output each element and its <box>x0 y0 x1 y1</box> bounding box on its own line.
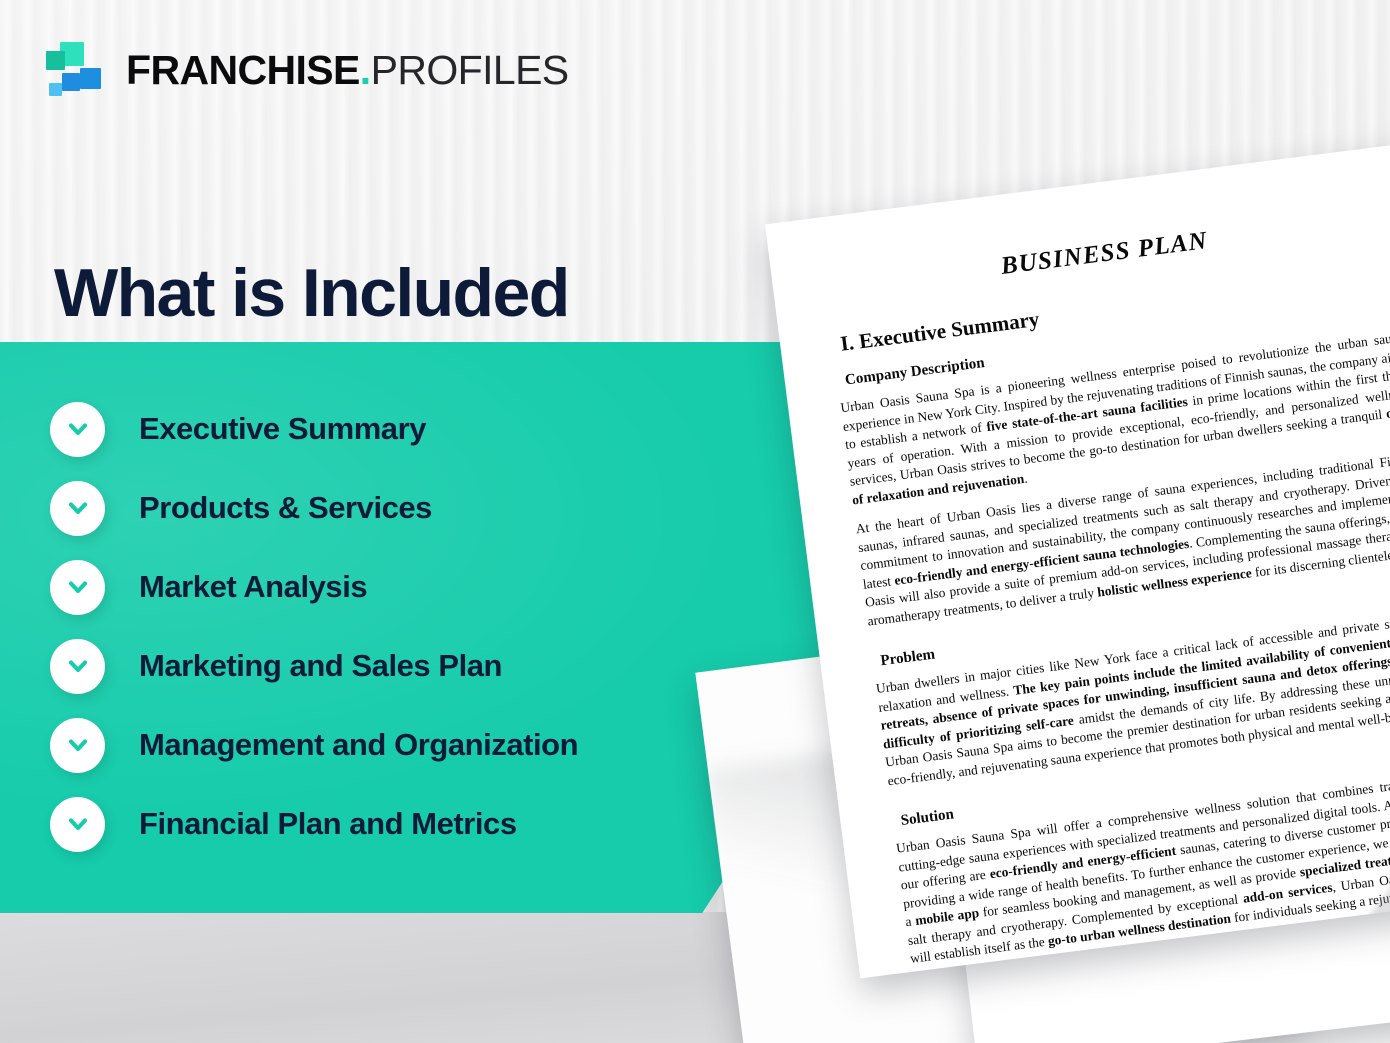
slide-canvas: FRANCHISE.PROFILES What is Included Exec… <box>0 0 1390 1043</box>
included-sections-list: Executive Summary Products & Services Ma… <box>50 399 750 873</box>
page-title: What is Included <box>54 259 569 327</box>
chevron-down-icon[interactable] <box>50 481 105 536</box>
logo-word-dot: . <box>360 47 371 93</box>
list-item[interactable]: Financial Plan and Metrics <box>50 794 750 854</box>
list-item-label: Management and Organization <box>139 727 578 763</box>
chevron-down-icon[interactable] <box>50 560 105 615</box>
doc-text: . <box>1023 470 1028 485</box>
chevron-down-icon[interactable] <box>50 797 105 852</box>
list-item-label: Executive Summary <box>139 411 426 447</box>
list-item-label: Products & Services <box>139 490 432 526</box>
chevron-down-icon[interactable] <box>50 718 105 773</box>
logo-word-bold: FRANCHISE <box>126 47 360 93</box>
brand-logo[interactable]: FRANCHISE.PROFILES <box>46 42 569 98</box>
document-body: BUSINESS PLAN I. Executive Summary Compa… <box>818 204 1390 978</box>
logo-square-green <box>46 51 65 70</box>
list-item[interactable]: Marketing and Sales Plan <box>50 636 750 696</box>
list-item-label: Financial Plan and Metrics <box>139 806 517 842</box>
chevron-down-icon[interactable] <box>50 402 105 457</box>
document-sheet-front: BUSINESS PLAN I. Executive Summary Compa… <box>765 142 1390 979</box>
business-plan-document-stack: BUSINESS PLAN I. Executive Summary Compa… <box>660 120 1390 1043</box>
list-item[interactable]: Executive Summary <box>50 399 750 459</box>
logo-square-blue-mid <box>62 73 80 91</box>
list-item[interactable]: Products & Services <box>50 478 750 538</box>
logo-square-blue-right <box>80 68 101 89</box>
list-item[interactable]: Market Analysis <box>50 557 750 617</box>
logo-word-light: PROFILES <box>371 47 569 93</box>
logo-wordmark: FRANCHISE.PROFILES <box>126 50 569 91</box>
list-item-label: Market Analysis <box>139 569 367 605</box>
squares-mosaic-icon <box>46 42 104 98</box>
logo-square-lightblue-small <box>49 83 62 96</box>
list-item[interactable]: Management and Organization <box>50 715 750 775</box>
chevron-down-icon[interactable] <box>50 639 105 694</box>
list-item-label: Marketing and Sales Plan <box>139 648 502 684</box>
